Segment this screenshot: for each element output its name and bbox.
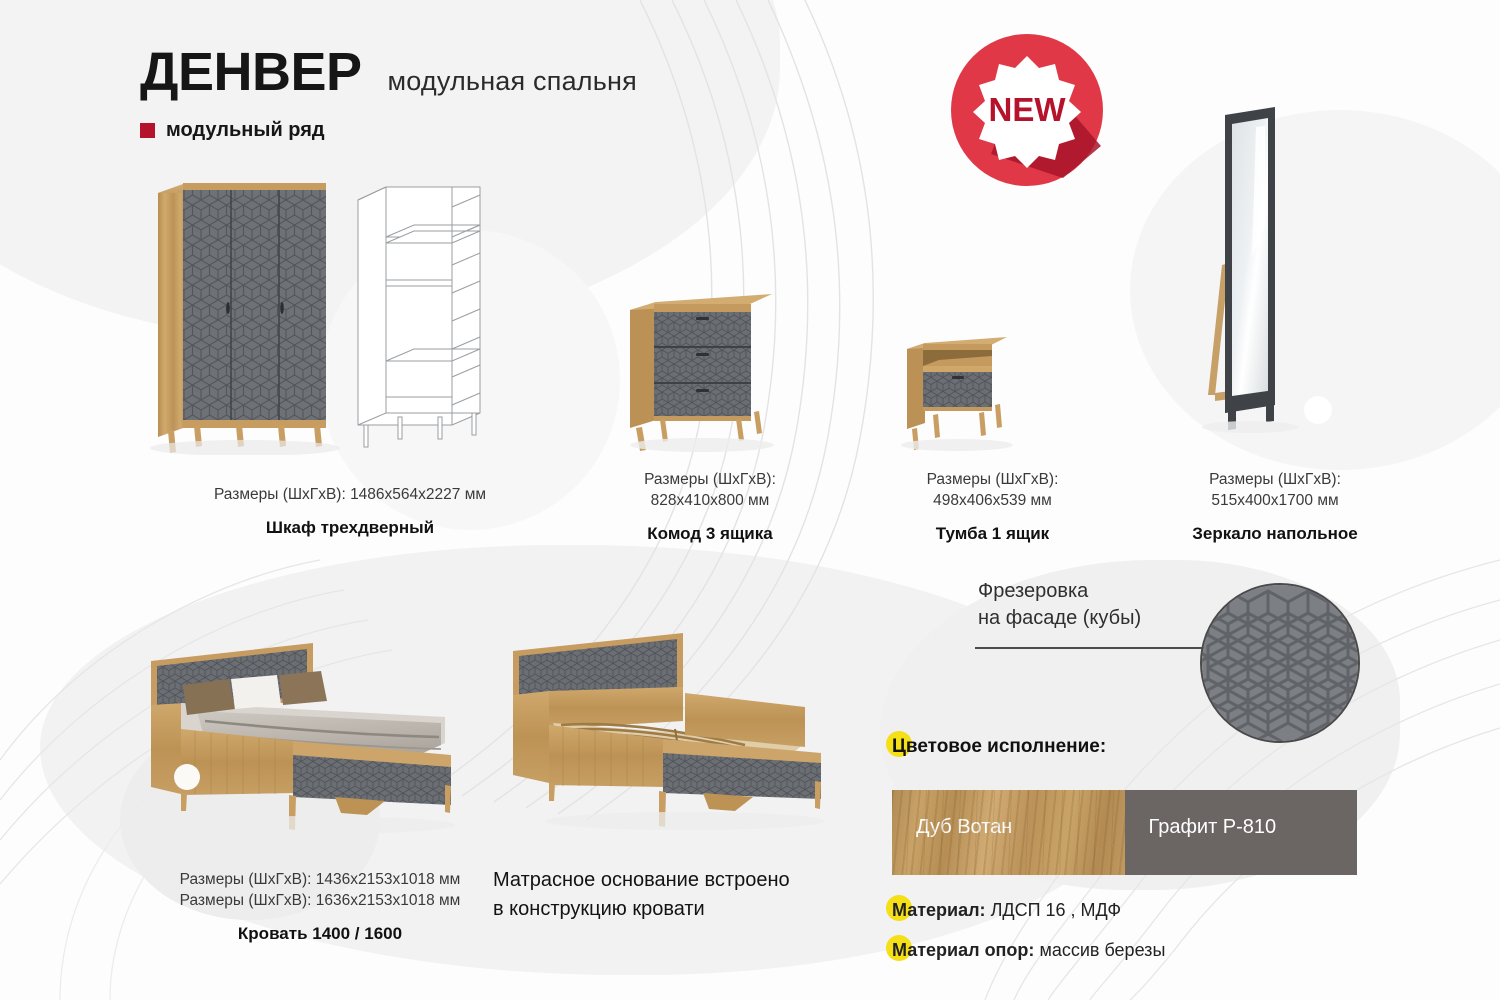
wardrobe-image	[150, 165, 510, 455]
mattress-note-line2: в конструкцию кровати	[493, 895, 790, 924]
milling-line2: на фасаде (кубы)	[978, 605, 1141, 632]
mirror-name: Зеркало напольное	[1135, 524, 1415, 544]
tagline-label: модульный ряд	[166, 119, 325, 142]
swatch-graphite: Графит Р-810	[1125, 790, 1358, 875]
bed-name: Кровать 1400 / 1600	[110, 924, 530, 944]
milling-divider	[975, 647, 1207, 649]
bed-dimensions-line1: Размеры (ШхГхВ): 1436x2153x1018 мм	[110, 870, 530, 891]
mirror-image	[1200, 105, 1340, 435]
mirror-caption: Размеры (ШхГхВ): 515x400x1700 мм Зеркало…	[1135, 470, 1415, 544]
mirror-dimensions-line1: Размеры (ШхГхВ):	[1135, 470, 1415, 491]
mattress-note: Матрасное основание встроено в конструкц…	[493, 866, 790, 924]
color-heading-first: Ц	[892, 736, 906, 757]
dresser-dimensions-line1: Размеры (ШхГхВ):	[600, 470, 820, 491]
dresser-drawers	[654, 312, 751, 418]
bed-made-image	[145, 625, 505, 855]
bed-caption: Размеры (ШхГхВ): 1436x2153x1018 мм Разме…	[110, 870, 530, 944]
dresser-side	[630, 302, 656, 428]
mirror-dimensions-line2: 515x400x1700 мм	[1135, 491, 1415, 512]
page-header: ДЕНВЕР модульная спальня модульный ряд	[140, 45, 637, 142]
material-row-1: Материал: ЛДСП 16 , МДФ	[892, 900, 1121, 921]
swatch-oak: Дуб Вотан	[892, 790, 1125, 875]
dresser-image	[620, 280, 800, 455]
dresser-caption: Размеры (ШхГхВ): 828x410x800 мм Комод 3 …	[600, 470, 820, 544]
bed-dimensions-line2: Размеры (ШхГхВ): 1636x2153x1018 мм	[110, 891, 530, 912]
nightstand-caption: Размеры (ШхГхВ): 498x406x539 мм Тумба 1 …	[885, 470, 1100, 544]
wardrobe-name: Шкаф трехдверный	[140, 518, 560, 538]
material-1-rest: атериал:	[907, 900, 985, 920]
tagline-row: модульный ряд	[140, 119, 637, 142]
color-heading-rest: ветовое исполнение:	[906, 736, 1106, 757]
wardrobe-caption: Размеры (ШхГхВ): 1486x564x2227 мм Шкаф т…	[140, 485, 560, 538]
mattress-note-line1: Матрасное основание встроено	[493, 866, 790, 895]
milling-line1: Фрезеровка	[978, 578, 1141, 605]
milling-text: Фрезеровка на фасаде (кубы)	[978, 578, 1141, 632]
nightstand-dimensions-line2: 498x406x539 мм	[885, 491, 1100, 512]
nightstand-name: Тумба 1 ящик	[885, 524, 1100, 544]
square-bullet-icon	[140, 123, 155, 138]
page-title: ДЕНВЕР	[140, 45, 362, 99]
swatch-oak-label: Дуб Вотан	[916, 816, 1012, 839]
page-subtitle: модульная спальня	[388, 66, 637, 97]
material-2-rest: атериал опор:	[907, 940, 1034, 960]
wardrobe-wireframe	[358, 187, 480, 447]
new-badge: NEW	[951, 34, 1103, 186]
color-section-heading: Цветовое исполнение:	[892, 736, 1106, 758]
material-1-first: М	[892, 900, 907, 920]
dresser-dimensions-line2: 828x410x800 мм	[600, 491, 820, 512]
material-1-value: ЛДСП 16 , МДФ	[991, 900, 1121, 920]
bedframe-headboard-panel	[519, 639, 677, 696]
wardrobe-dimensions: Размеры (ШхГхВ): 1486x564x2227 мм	[140, 485, 560, 506]
swatch-graphite-label: Графит Р-810	[1149, 816, 1277, 839]
material-2-first: М	[892, 940, 907, 960]
wardrobe-side	[158, 183, 186, 437]
bed-frame-image	[505, 625, 855, 850]
nightstand-dimensions-line1: Размеры (ШхГхВ):	[885, 470, 1100, 491]
material-row-2: Материал опор: массив березы	[892, 940, 1165, 961]
cube-pattern-swatch	[1200, 583, 1360, 743]
title-row: ДЕНВЕР модульная спальня	[140, 45, 637, 99]
nightstand-image	[895, 325, 1045, 455]
nightstand-side	[907, 343, 925, 429]
color-swatches: Дуб Вотан Графит Р-810	[892, 790, 1357, 875]
wardrobe-doors	[183, 190, 326, 426]
material-2-value: массив березы	[1039, 940, 1165, 960]
badge-label: NEW	[989, 91, 1067, 128]
dresser-name: Комод 3 ящика	[600, 524, 820, 544]
